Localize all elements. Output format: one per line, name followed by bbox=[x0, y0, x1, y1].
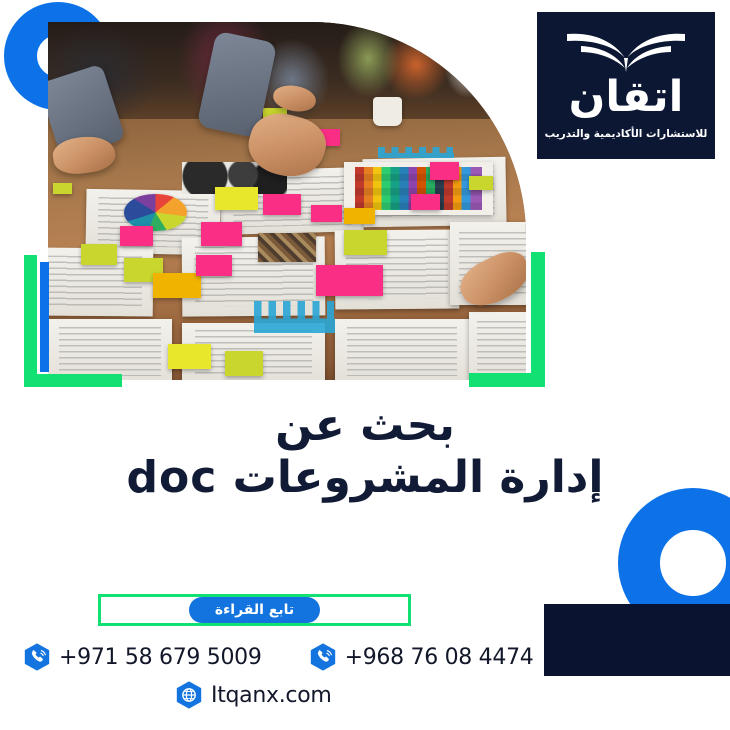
green-bracket-right bbox=[469, 252, 545, 387]
title-line-2: إدارة المشروعات doc bbox=[0, 452, 730, 504]
contact-website[interactable]: Itqanx.com bbox=[174, 680, 502, 710]
poster-canvas: اتقان للاستشارات الأكاديمية والتدريب بحث… bbox=[0, 0, 730, 730]
contact-phone-2[interactable]: +968 76 08 4474 bbox=[308, 642, 534, 672]
website-url: Itqanx.com bbox=[211, 683, 332, 708]
page-title: بحث عن إدارة المشروعات doc bbox=[0, 400, 730, 504]
phone-hexagon-icon bbox=[308, 642, 338, 672]
brand-logo-card: اتقان للاستشارات الأكاديمية والتدريب bbox=[537, 12, 715, 159]
continue-reading-button[interactable]: تابع القراءة bbox=[189, 597, 320, 623]
phone-hexagon-icon bbox=[22, 642, 52, 672]
brand-name: اتقان bbox=[569, 76, 684, 119]
navy-block-decoration bbox=[544, 604, 730, 676]
phone-number-2: +968 76 08 4474 bbox=[345, 645, 534, 670]
title-line-1: بحث عن bbox=[0, 400, 730, 452]
blue-stripe-accent bbox=[40, 262, 49, 372]
phone-number-1: +971 58 679 5009 bbox=[59, 645, 262, 670]
cta-frame[interactable]: تابع القراءة bbox=[98, 594, 411, 626]
contact-info: +971 58 679 5009 +968 76 08 4474 I bbox=[22, 642, 502, 710]
brand-tagline: للاستشارات الأكاديمية والتدريب bbox=[545, 128, 708, 140]
contact-phone-1[interactable]: +971 58 679 5009 bbox=[22, 642, 262, 672]
globe-hexagon-icon bbox=[174, 680, 204, 710]
green-bracket-left bbox=[24, 255, 122, 387]
open-book-wings-icon bbox=[565, 28, 687, 74]
